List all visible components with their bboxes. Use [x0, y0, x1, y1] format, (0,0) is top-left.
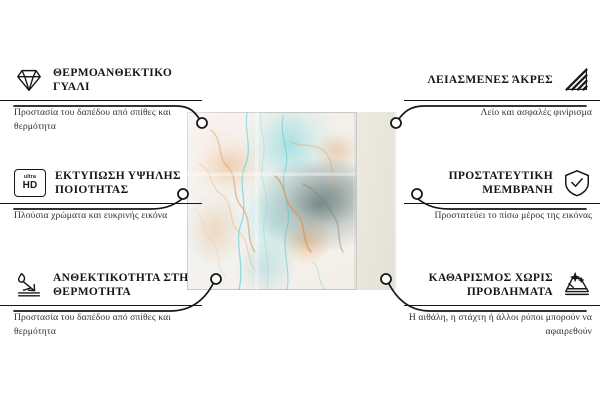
feature-heat-durability: ΑΝΘΕΚΤΙΚΟΤΗΤΑ ΣΤΗ ΘΕΡΜΟΤΗΤΑ Προστασία το… — [14, 268, 202, 338]
feature-body: Πλούσια χρώματα και ευκρινής εικόνα — [14, 209, 202, 223]
glass-right-edge — [353, 112, 357, 290]
feature-title: ΠΡΟΣΤΑΤΕΥΤΙΚΗ ΜΕΜΒΡΑΝΗ — [404, 169, 553, 198]
feature-header: ΠΡΟΣΤΑΤΕΥΤΙΚΗ ΜΕΜΒΡΑΝΗ — [404, 166, 592, 200]
feature-body: Προστατεύει το πίσω μέρος της εικόνας — [404, 209, 592, 223]
feature-header: ΑΝΘΕΚΤΙΚΟΤΗΤΑ ΣΤΗ ΘΕΡΜΟΤΗΤΑ — [14, 268, 202, 302]
divider — [0, 203, 202, 204]
divider — [404, 100, 600, 101]
diamond-icon — [14, 65, 44, 95]
feature-heat-resistant-glass: ΘΕΡΜΟΑΝΘΕΚΤΙΚΟ ΓΥΑΛΙ Προστασία του δαπέδ… — [14, 63, 202, 133]
product-image — [187, 112, 397, 290]
feature-protective-membrane: ΠΡΟΣΤΑΤΕΥΤΙΚΗ ΜΕΜΒΡΑΝΗ Προστατεύει το πί… — [404, 166, 592, 223]
infographic-canvas: ΘΕΡΜΟΑΝΘΕΚΤΙΚΟ ΓΥΑΛΙ Προστασία του δαπέδ… — [0, 0, 600, 400]
divider — [0, 305, 202, 306]
feature-body: Η αιθάλη, η στάχτη ή άλλοι ρύποι μπορούν… — [404, 311, 592, 338]
feature-title: ΘΕΡΜΟΑΝΘΕΚΤΙΚΟ ΓΥΑΛΙ — [53, 66, 202, 95]
easy-cleaning-icon — [562, 270, 592, 300]
glass-panel — [187, 112, 357, 290]
feature-header: ultra HD ΕΚΤΥΠΩΣΗ ΥΨΗΛΗΣ ΠΟΙΟΤΗΤΑΣ — [14, 166, 202, 200]
divider — [404, 305, 600, 306]
ultra-hd-bottom-label: HD — [23, 181, 38, 191]
feature-polished-edges: ΛΕΙΑΣΜΕΝΕΣ ΆΚΡΕΣ Λείο και ασφαλές φινίρι… — [404, 63, 592, 120]
polished-edges-icon — [562, 65, 592, 95]
heat-resistance-icon — [14, 270, 44, 300]
feature-header: ΘΕΡΜΟΑΝΘΕΚΤΙΚΟ ΓΥΑΛΙ — [14, 63, 202, 97]
shield-check-icon — [562, 168, 592, 198]
feature-body: Προστασία του δαπέδου από σπίθες και θερ… — [14, 311, 202, 338]
feature-title: ΛΕΙΑΣΜΕΝΕΣ ΆΚΡΕΣ — [427, 73, 553, 87]
feature-easy-cleaning: ΚΑΘΑΡΙΣΜΟΣ ΧΩΡΙΣ ΠΡΟΒΛΗΜΑΤΑ Η αιθάλη, η … — [404, 268, 592, 338]
ultra-hd-badge-icon: ultra HD — [14, 169, 46, 197]
marble-veins — [187, 112, 357, 290]
feature-body: Λείο και ασφαλές φινίρισμα — [404, 106, 592, 120]
feature-body: Προστασία του δαπέδου από σπίθες και θερ… — [14, 106, 202, 133]
feature-title: ΕΚΤΥΠΩΣΗ ΥΨΗΛΗΣ ΠΟΙΟΤΗΤΑΣ — [55, 169, 202, 198]
feature-title: ΑΝΘΕΚΤΙΚΟΤΗΤΑ ΣΤΗ ΘΕΡΜΟΤΗΤΑ — [53, 271, 202, 300]
feature-header: ΛΕΙΑΣΜΕΝΕΣ ΆΚΡΕΣ — [404, 63, 592, 97]
feature-high-quality-print: ultra HD ΕΚΤΥΠΩΣΗ ΥΨΗΛΗΣ ΠΟΙΟΤΗΤΑΣ Πλούσ… — [14, 166, 202, 223]
divider — [0, 100, 202, 101]
feature-header: ΚΑΘΑΡΙΣΜΟΣ ΧΩΡΙΣ ΠΡΟΒΛΗΜΑΤΑ — [404, 268, 592, 302]
feature-title: ΚΑΘΑΡΙΣΜΟΣ ΧΩΡΙΣ ΠΡΟΒΛΗΜΑΤΑ — [404, 271, 553, 300]
divider — [404, 203, 600, 204]
